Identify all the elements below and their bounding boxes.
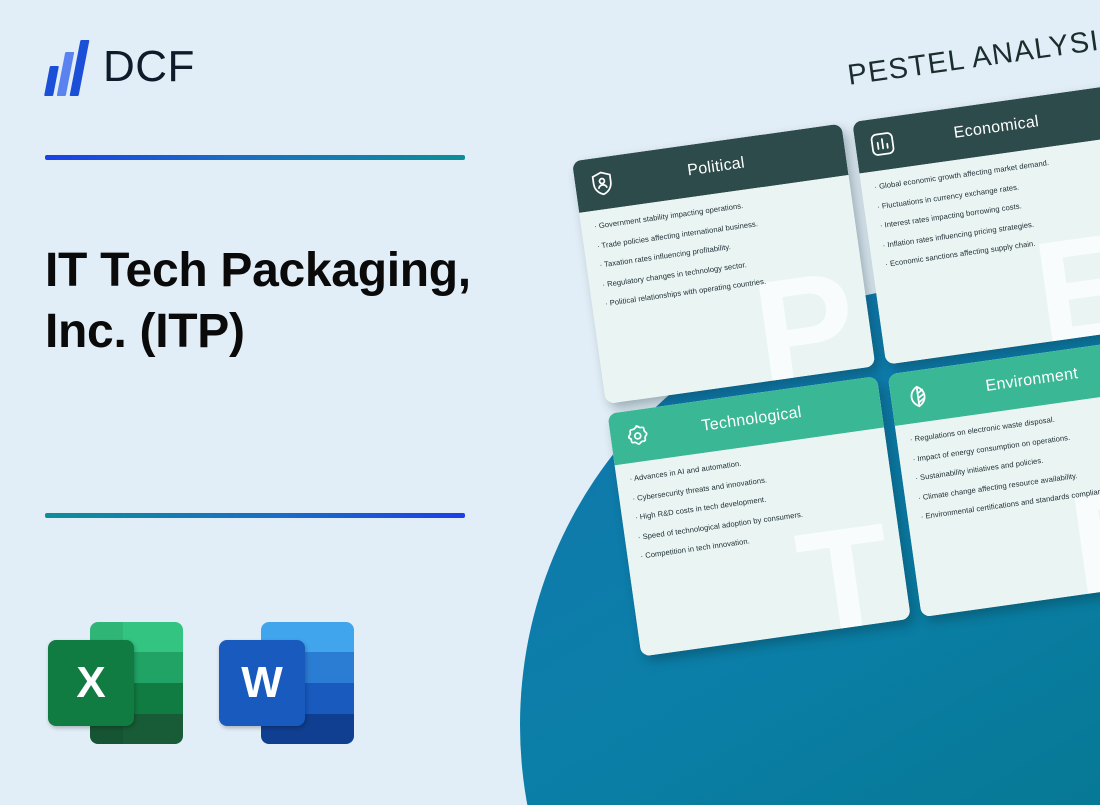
card-political[interactable]: Political P Government stability impacti…: [572, 124, 875, 404]
card-political-body: P Government stability impacting operati…: [579, 175, 875, 404]
logo-bar-3: [70, 40, 90, 96]
download-icons: X W: [48, 618, 354, 748]
card-economical-body: E Global economic growth affecting marke…: [859, 136, 1100, 365]
divider-top: [45, 155, 465, 160]
card-environment-title: Environment: [932, 355, 1100, 403]
card-technological[interactable]: Technological T Advances in AI and autom…: [607, 376, 910, 656]
list-item: Competition in tech innovation.: [640, 519, 885, 561]
brand-name: DCF: [103, 45, 195, 89]
shield-person-icon: [585, 166, 619, 200]
pestel-heading: PESTEL ANALYSIS: [846, 22, 1100, 93]
left-panel: DCF IT Tech Packaging, Inc. (ITP) X W: [0, 0, 540, 805]
page-title: IT Tech Packaging, Inc. (ITP): [45, 240, 495, 363]
word-letter: W: [219, 640, 305, 726]
list-item: Speed of technological adoption by consu…: [637, 499, 882, 541]
excel-download-icon[interactable]: X: [48, 618, 183, 748]
card-technological-body: T Advances in AI and automation. Cyberse…: [615, 428, 911, 657]
card-economical[interactable]: Economical E Global economic growth affe…: [852, 84, 1100, 364]
excel-letter: X: [48, 640, 134, 726]
brand-logo[interactable]: DCF: [45, 38, 195, 96]
leaf-icon: [901, 380, 935, 414]
bar-chart-icon: [866, 127, 900, 161]
list-item: Political relationships with operating c…: [605, 266, 850, 308]
divider-bottom: [45, 513, 465, 518]
pestel-card-grid: Political P Government stability impacti…: [572, 83, 1100, 656]
gear-icon: [621, 419, 655, 453]
bar-chart-logo-icon: [45, 38, 89, 96]
word-download-icon[interactable]: W: [219, 618, 354, 748]
card-environment[interactable]: Environment E Regulations on electronic …: [888, 337, 1100, 617]
card-environment-body: E Regulations on electronic waste dispos…: [895, 388, 1100, 617]
